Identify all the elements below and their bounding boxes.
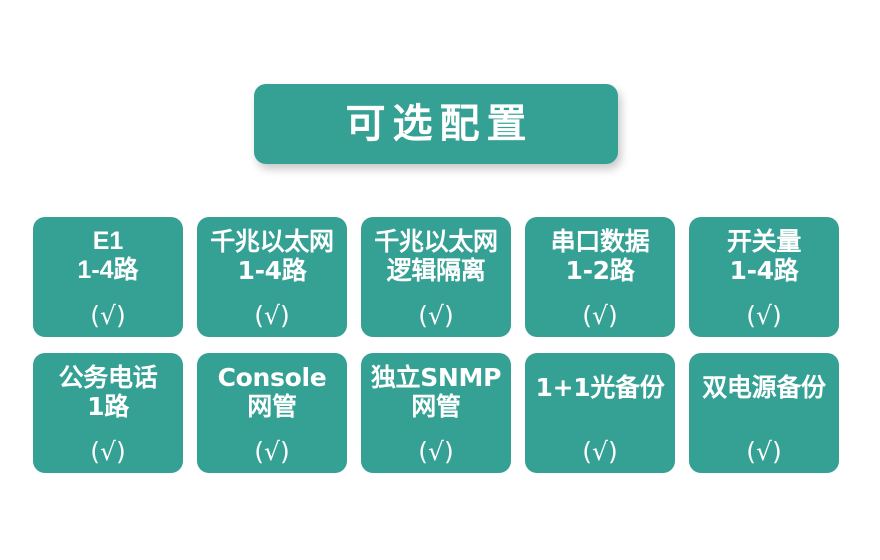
feature-card-label: 1-4路 bbox=[730, 256, 799, 285]
checkmark-icon: (√) bbox=[746, 438, 781, 466]
feature-card[interactable]: 1+1光备份(√) bbox=[525, 353, 675, 473]
feature-card[interactable]: 双电源备份(√) bbox=[689, 353, 839, 473]
feature-card-label-group: 1+1光备份 bbox=[529, 373, 671, 402]
feature-card-label-group: Console网管 bbox=[201, 363, 343, 421]
feature-card-label: 1路 bbox=[87, 392, 129, 421]
feature-card-label: 网管 bbox=[247, 392, 296, 421]
feature-card-label: 1-4路 bbox=[238, 256, 307, 285]
feature-card-label: 千兆以太网 bbox=[210, 227, 334, 256]
title-banner-surface: 可选配置 bbox=[254, 84, 618, 164]
feature-card-label-group: 双电源备份 bbox=[693, 373, 835, 402]
checkmark-icon: (√) bbox=[582, 302, 617, 330]
feature-card-label: 千兆以太网 bbox=[374, 227, 498, 256]
feature-card-grid: E11-4路(√)千兆以太网1-4路(√)千兆以太网逻辑隔离(√)串口数据1-2… bbox=[33, 217, 847, 473]
feature-card-row: E11-4路(√)千兆以太网1-4路(√)千兆以太网逻辑隔离(√)串口数据1-2… bbox=[33, 217, 847, 337]
checkmark-icon: (√) bbox=[254, 438, 289, 466]
feature-card[interactable]: Console网管(√) bbox=[197, 353, 347, 473]
feature-card-label: 独立SNMP bbox=[371, 363, 501, 392]
feature-card[interactable]: 开关量1-4路(√) bbox=[689, 217, 839, 337]
feature-card-label: 1-4路 bbox=[77, 256, 138, 285]
feature-card-label: 公务电话 bbox=[59, 363, 158, 392]
feature-card-label-group: E11-4路 bbox=[37, 227, 179, 285]
feature-card-label-group: 独立SNMP网管 bbox=[365, 363, 507, 421]
title-banner: 可选配置 bbox=[254, 84, 618, 164]
feature-card[interactable]: 独立SNMP网管(√) bbox=[361, 353, 511, 473]
checkmark-icon: (√) bbox=[254, 302, 289, 330]
feature-card[interactable]: 公务电话1路(√) bbox=[33, 353, 183, 473]
checkmark-icon: (√) bbox=[90, 438, 125, 466]
feature-card-label: 串口数据 bbox=[551, 227, 650, 256]
feature-card[interactable]: 串口数据1-2路(√) bbox=[525, 217, 675, 337]
feature-card-row: 公务电话1路(√)Console网管(√)独立SNMP网管(√)1+1光备份(√… bbox=[33, 353, 847, 473]
feature-card-label: Console bbox=[218, 363, 327, 392]
feature-card-label: 1+1光备份 bbox=[536, 373, 665, 402]
feature-card-label-group: 千兆以太网逻辑隔离 bbox=[365, 227, 507, 285]
checkmark-icon: (√) bbox=[418, 302, 453, 330]
feature-card[interactable]: 千兆以太网1-4路(√) bbox=[197, 217, 347, 337]
feature-card-label: 双电源备份 bbox=[702, 373, 826, 402]
feature-card-label: E1 bbox=[93, 227, 124, 256]
checkmark-icon: (√) bbox=[418, 438, 453, 466]
feature-card-label: 开关量 bbox=[727, 227, 801, 256]
feature-card-label: 逻辑隔离 bbox=[387, 256, 486, 285]
page-title: 可选配置 bbox=[339, 104, 534, 144]
feature-card-label: 网管 bbox=[411, 392, 460, 421]
feature-card-label-group: 千兆以太网1-4路 bbox=[201, 227, 343, 285]
checkmark-icon: (√) bbox=[90, 302, 125, 330]
feature-card-label-group: 公务电话1路 bbox=[37, 363, 179, 421]
feature-card-label-group: 串口数据1-2路 bbox=[529, 227, 671, 285]
feature-card-label: 1-2路 bbox=[566, 256, 635, 285]
optional-configuration-page: 可选配置 E11-4路(√)千兆以太网1-4路(√)千兆以太网逻辑隔离(√)串口… bbox=[0, 0, 880, 560]
feature-card-label-group: 开关量1-4路 bbox=[693, 227, 835, 285]
feature-card[interactable]: 千兆以太网逻辑隔离(√) bbox=[361, 217, 511, 337]
feature-card[interactable]: E11-4路(√) bbox=[33, 217, 183, 337]
checkmark-icon: (√) bbox=[582, 438, 617, 466]
checkmark-icon: (√) bbox=[746, 302, 781, 330]
